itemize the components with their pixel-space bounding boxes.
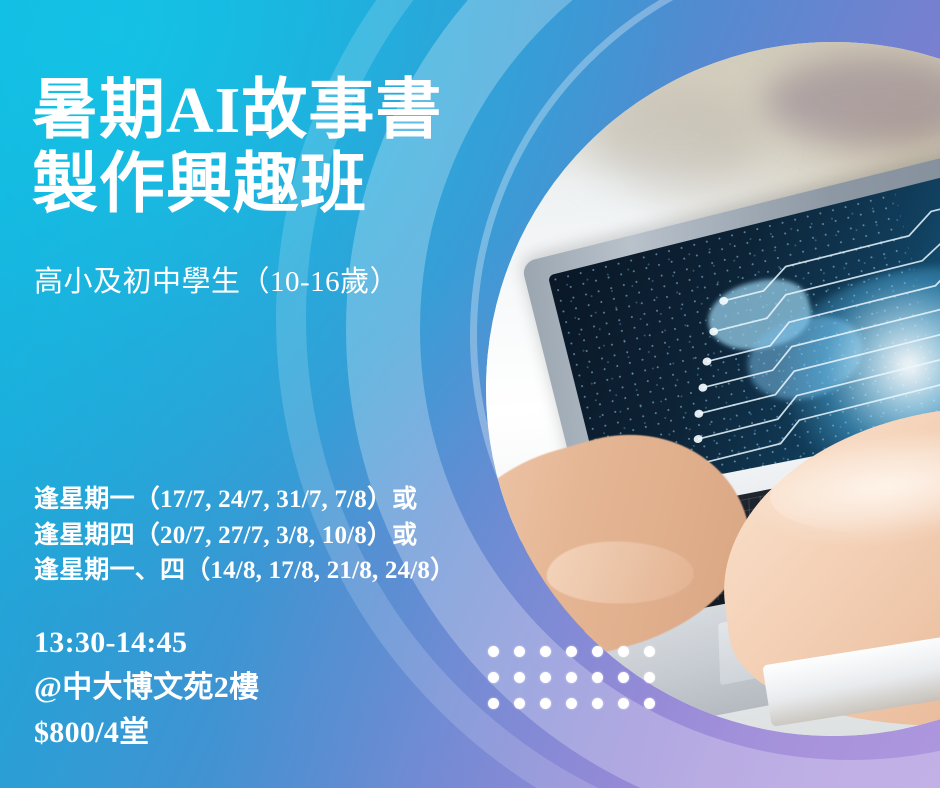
schedule-line: 逢星期一、四（14/8, 17/8, 21/8, 24/8）	[34, 553, 484, 589]
schedule-block: 逢星期一（17/7, 24/7, 31/7, 7/8）或 逢星期四（20/7, …	[34, 482, 484, 589]
details-line-time: 13:30-14:45	[34, 620, 434, 665]
dot	[488, 646, 499, 657]
dot	[566, 672, 577, 683]
photo-circle: AI	[486, 42, 940, 736]
schedule-line: 逢星期一（17/7, 24/7, 31/7, 7/8）或	[34, 482, 484, 518]
details-line-price: $800/4堂	[34, 710, 434, 755]
details-line-venue: @中大博文苑2樓	[34, 665, 434, 710]
dot-grid-decoration	[488, 646, 670, 724]
dot	[488, 672, 499, 683]
left-hand-finger	[547, 541, 694, 603]
photo-blur-blob-left	[583, 84, 763, 188]
dot	[566, 698, 577, 709]
dot	[592, 672, 603, 683]
dot	[514, 698, 525, 709]
subtitle: 高小及初中學生（10-16歲）	[34, 258, 399, 300]
title-line-2: 製作興趣班	[32, 148, 502, 222]
dot	[592, 646, 603, 657]
dot	[540, 672, 551, 683]
dot	[540, 646, 551, 657]
title-line-1: 暑期AI故事書	[32, 74, 502, 148]
dot	[644, 646, 655, 657]
laptop-photo: AI	[486, 42, 940, 736]
dot	[644, 672, 655, 683]
dot	[592, 698, 603, 709]
dot	[514, 646, 525, 657]
dot	[566, 646, 577, 657]
page-title: 暑期AI故事書 製作興趣班	[32, 74, 502, 222]
dot	[488, 698, 499, 709]
dot	[618, 646, 629, 657]
dot	[540, 698, 551, 709]
dot	[514, 672, 525, 683]
dot	[618, 672, 629, 683]
dot	[644, 698, 655, 709]
schedule-line: 逢星期四（20/7, 27/7, 3/8, 10/8）或	[34, 518, 484, 554]
poster-canvas: AI	[0, 0, 940, 788]
details-block: 13:30-14:45 @中大博文苑2樓 $800/4堂	[34, 620, 434, 755]
dot	[618, 698, 629, 709]
